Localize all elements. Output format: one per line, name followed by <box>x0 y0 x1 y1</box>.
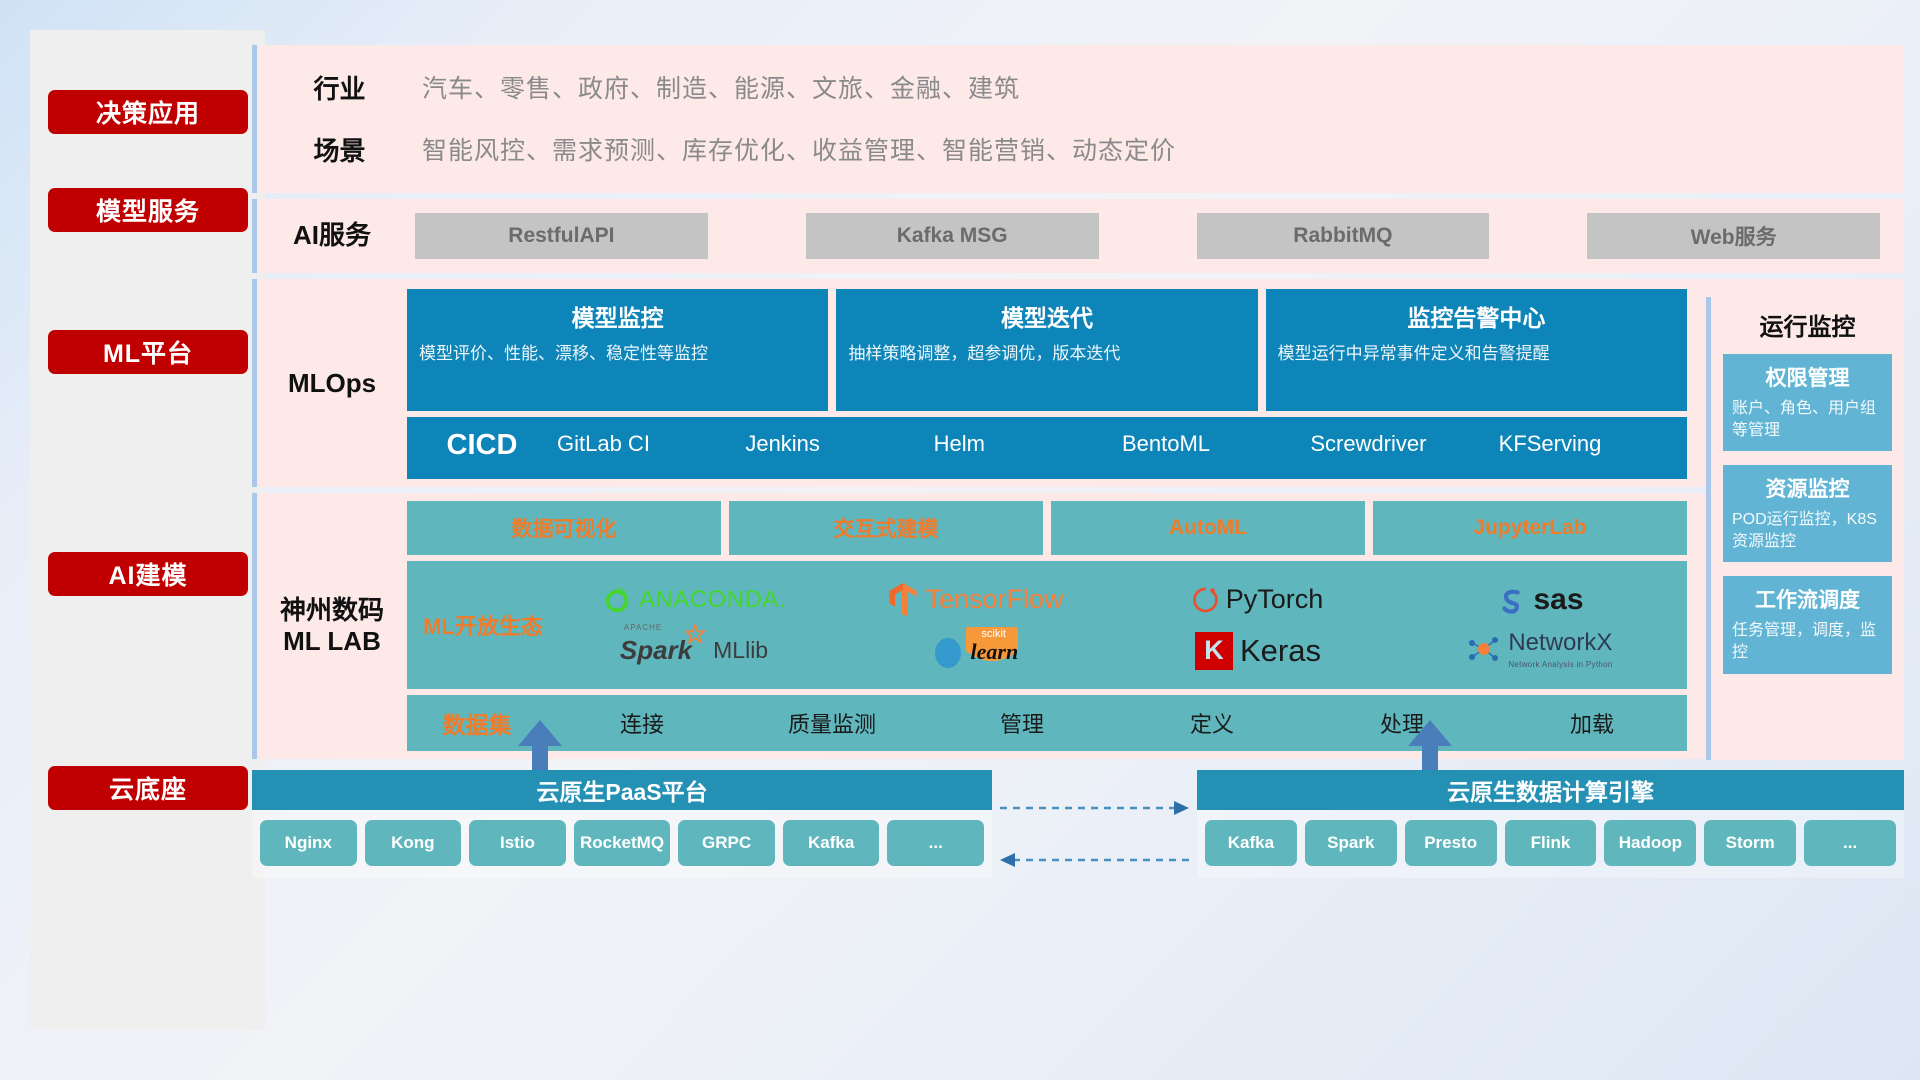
tensorflow-wordmark: TensorFlow <box>925 584 1063 615</box>
cicd-item-gitlab-ci[interactable]: GitLab CI <box>557 417 745 457</box>
mllib-wordmark: MLlib <box>713 637 768 664</box>
card-desc: 抽样策略调整，超参调优，版本迭代 <box>848 343 1245 366</box>
engine-chip-kafka[interactable]: Kafka <box>1205 820 1297 866</box>
engine-chip-storm[interactable]: Storm <box>1704 820 1796 866</box>
layer-chip-model-service[interactable]: 模型服务 <box>48 188 248 232</box>
monitor-column-title: 运行监控 <box>1723 307 1892 342</box>
industry-scenario-band: 行业 汽车、零售、政府、制造、能源、文旅、金融、建筑 场景 智能风控、需求预测、… <box>252 45 1904 193</box>
engine-chip-flink[interactable]: Flink <box>1505 820 1597 866</box>
tool-chip-data-visualization[interactable]: 数据可视化 <box>407 501 721 555</box>
pytorch-wordmark: PyTorch <box>1226 584 1324 615</box>
anaconda-logo: ANACONDA. <box>553 585 835 615</box>
ml-lab-label-line2: ML LAB <box>257 626 407 657</box>
data-engine-header: 云原生数据计算引擎 <box>1197 770 1904 810</box>
ml-lab-label-line1: 神州数码 <box>257 595 407 626</box>
card-title: 工作流调度 <box>1732 584 1883 614</box>
monitor-column: 运行监控 权限管理 账户、角色、用户组等管理 资源监控 POD运行监控，K8S资… <box>1706 297 1904 760</box>
arrow-up-paas-icon <box>510 720 570 770</box>
service-chip-web[interactable]: Web服务 <box>1587 213 1880 259</box>
card-desc: POD运行监控，K8S资源监控 <box>1732 509 1883 552</box>
sas-logo: sas <box>1399 583 1681 617</box>
layer-label-rail: 决策应用 模型服务 ML平台 AI建模 云底座 <box>30 30 265 1030</box>
paas-chip-nginx[interactable]: Nginx <box>260 820 357 866</box>
mlops-card-alert-center[interactable]: 监控告警中心 模型运行中异常事件定义和告警提醒 <box>1266 289 1687 411</box>
scikit-orange-blob-icon: scikit learn <box>962 625 1022 676</box>
arrow-up-data-engine-icon <box>1400 720 1460 770</box>
tool-chip-interactive-modeling[interactable]: 交互式建模 <box>729 501 1043 555</box>
scenario-row: 场景 智能风控、需求预测、库存优化、收益管理、智能营销、动态定价 <box>257 125 1904 173</box>
mlops-label: MLOps <box>257 368 407 399</box>
tensorflow-logo: TensorFlow <box>835 583 1117 617</box>
tool-chip-jupyterlab[interactable]: JupyterLab <box>1373 501 1687 555</box>
pytorch-glyph <box>1193 585 1219 615</box>
engine-chip-more[interactable]: ... <box>1804 820 1896 866</box>
service-chip-restfulapi[interactable]: RestfulAPI <box>415 213 708 259</box>
card-title: 资源监控 <box>1732 473 1883 503</box>
diagram-canvas: 决策应用 模型服务 ML平台 AI建模 云底座 行业 汽车、零售、政府、制造、能… <box>0 0 1920 1080</box>
cicd-item-jenkins[interactable]: Jenkins <box>745 417 933 457</box>
paas-chip-grpc[interactable]: GRPC <box>678 820 775 866</box>
keras-wordmark: Keras <box>1240 633 1321 669</box>
card-title: 模型监控 <box>419 299 816 333</box>
ml-ecosystem-row: ML开放生态 ANACONDA. <box>407 561 1687 689</box>
layer-chip-cloud-base[interactable]: 云底座 <box>48 766 248 810</box>
networkx-tagline: Network Analysis in Python <box>1508 660 1612 669</box>
card-desc: 账户、角色、用户组等管理 <box>1732 398 1883 441</box>
card-desc: 模型评价、性能、漂移、稳定性等监控 <box>419 343 816 366</box>
networkx-wordmark: NetworkX <box>1508 630 1612 655</box>
spark-glyph: APACHE Spark <box>620 635 692 666</box>
ai-service-band: AI服务 RestfulAPI Kafka MSG RabbitMQ Web服务 <box>252 199 1904 273</box>
paas-chip-kafka[interactable]: Kafka <box>783 820 880 866</box>
keras-logo: K Keras <box>1117 632 1399 670</box>
mlops-card-model-iteration[interactable]: 模型迭代 抽样策略调整，超参调优，版本迭代 <box>836 289 1257 411</box>
cicd-title: CICD <box>407 417 557 462</box>
keras-mark-icon: K <box>1195 632 1233 670</box>
layer-chip-ai-modeling[interactable]: AI建模 <box>48 552 248 596</box>
paas-panel: 云原生PaaS平台 Nginx Kong Istio RocketMQ GRPC… <box>252 770 992 878</box>
spark-mllib-logo: APACHE Spark MLlib <box>553 635 835 666</box>
spark-star-icon <box>685 624 705 644</box>
paas-header: 云原生PaaS平台 <box>252 770 992 810</box>
cicd-item-screwdriver[interactable]: Screwdriver <box>1310 417 1498 457</box>
ai-service-label: AI服务 <box>257 220 407 251</box>
layer-chip-ml-platform[interactable]: ML平台 <box>48 330 248 374</box>
industry-label: 行业 <box>257 69 422 106</box>
scikit-blue-blob-icon <box>931 631 965 671</box>
ml-lab-label: 神州数码 ML LAB <box>257 595 407 657</box>
architecture-stack: 行业 汽车、零售、政府、制造、能源、文旅、金融、建筑 场景 智能风控、需求预测、… <box>252 45 1904 759</box>
anaconda-wordmark: ANACONDA. <box>639 586 786 614</box>
scikit-learn-logo: scikit learn <box>835 625 1117 676</box>
mlops-band: MLOps 模型监控 模型评价、性能、漂移、稳定性等监控 模型迭代 抽样策略调整… <box>252 279 1904 487</box>
learn-wordmark: learn <box>971 639 1019 665</box>
scenario-label: 场景 <box>257 131 422 168</box>
networkx-logo: NetworkX Network Analysis in Python <box>1399 630 1681 672</box>
sas-wordmark: sas <box>1533 583 1583 617</box>
card-title: 监控告警中心 <box>1278 299 1675 333</box>
cloud-base-section: 云原生PaaS平台 Nginx Kong Istio RocketMQ GRPC… <box>252 720 1904 1040</box>
engine-chip-spark[interactable]: Spark <box>1305 820 1397 866</box>
card-desc: 模型运行中异常事件定义和告警提醒 <box>1278 343 1675 366</box>
monitor-card-permissions[interactable]: 权限管理 账户、角色、用户组等管理 <box>1723 354 1892 451</box>
card-desc: 任务管理，调度，监控 <box>1732 620 1883 663</box>
service-chip-kafka-msg[interactable]: Kafka MSG <box>806 213 1099 259</box>
cicd-bar: CICD GitLab CI Jenkins Helm BentoML Scre… <box>407 417 1687 479</box>
cicd-item-kfserving[interactable]: KFServing <box>1499 417 1687 457</box>
card-title: 模型迭代 <box>848 299 1245 333</box>
monitor-card-resources[interactable]: 资源监控 POD运行监控，K8S资源监控 <box>1723 465 1892 562</box>
apache-supertext: APACHE <box>624 623 662 632</box>
data-engine-panel: 云原生数据计算引擎 Kafka Spark Presto Flink Hadoo… <box>1197 770 1904 878</box>
monitor-card-workflow[interactable]: 工作流调度 任务管理，调度，监控 <box>1723 576 1892 673</box>
paas-chip-more[interactable]: ... <box>887 820 984 866</box>
anaconda-glyph <box>602 585 632 615</box>
engine-chip-presto[interactable]: Presto <box>1405 820 1497 866</box>
networkx-glyph <box>1467 634 1501 666</box>
bidirectional-connector <box>992 770 1197 900</box>
industry-row: 行业 汽车、零售、政府、制造、能源、文旅、金融、建筑 <box>257 63 1904 111</box>
tensorflow-glyph <box>888 583 918 617</box>
ecosystem-title: ML开放生态 <box>413 609 553 641</box>
pytorch-logo: PyTorch <box>1117 584 1399 615</box>
tool-chip-automl[interactable]: AutoML <box>1051 501 1365 555</box>
sas-glyph <box>1496 585 1526 615</box>
engine-chip-hadoop[interactable]: Hadoop <box>1604 820 1696 866</box>
cicd-item-bentoml[interactable]: BentoML <box>1122 417 1310 457</box>
cicd-item-helm[interactable]: Helm <box>934 417 1122 457</box>
scenario-list: 智能风控、需求预测、库存优化、收益管理、智能营销、动态定价 <box>422 131 1176 167</box>
paas-chip-rocketmq[interactable]: RocketMQ <box>574 820 671 866</box>
mlops-card-model-monitoring[interactable]: 模型监控 模型评价、性能、漂移、稳定性等监控 <box>407 289 828 411</box>
card-title: 权限管理 <box>1732 362 1883 392</box>
layer-chip-decision[interactable]: 决策应用 <box>48 90 248 134</box>
paas-chip-istio[interactable]: Istio <box>469 820 566 866</box>
industry-list: 汽车、零售、政府、制造、能源、文旅、金融、建筑 <box>422 69 1020 105</box>
paas-chip-kong[interactable]: Kong <box>365 820 462 866</box>
service-chip-rabbitmq[interactable]: RabbitMQ <box>1197 213 1490 259</box>
spark-wordmark: Spark <box>620 635 692 665</box>
